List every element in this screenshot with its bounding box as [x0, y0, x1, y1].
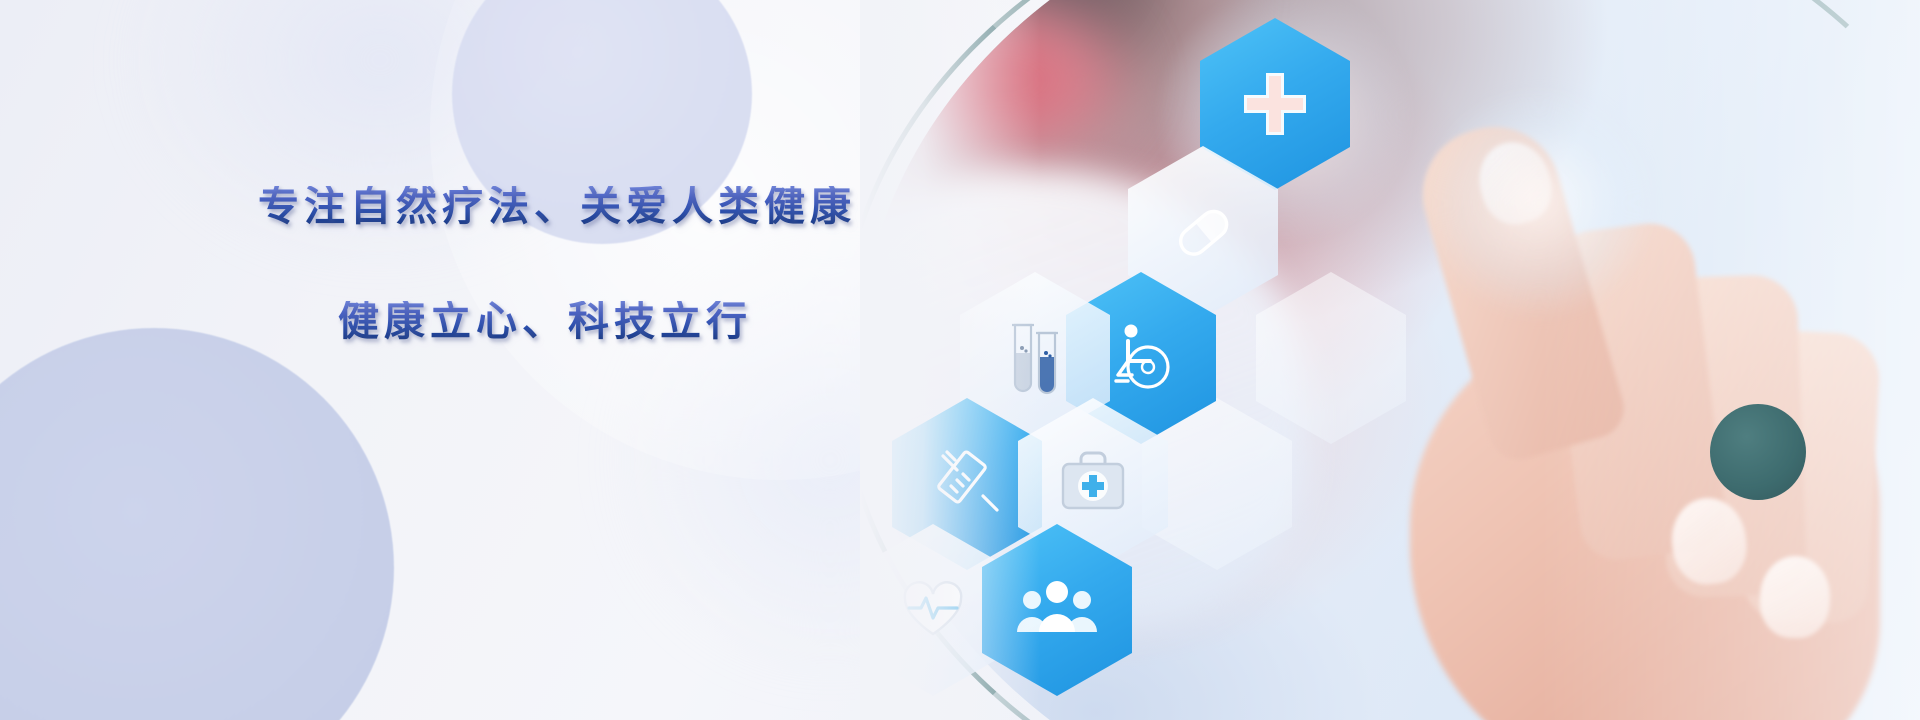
headline-line-2: 健康立心、科技立行	[338, 301, 878, 342]
medical-cross-icon	[1236, 65, 1314, 143]
pill-capsule-icon	[1161, 190, 1245, 274]
blurred-mouth	[890, 0, 1140, 170]
medical-hero-banner: 专注自然疗法、关爱人类健康 健康立心、科技立行	[0, 0, 1920, 720]
hero-photo-pane	[860, 0, 1920, 720]
circle-bottom-periwinkle	[0, 328, 394, 720]
people-group-icon	[1013, 568, 1101, 652]
arc-end-dot	[1710, 404, 1806, 500]
first-aid-kit-icon	[1051, 442, 1135, 526]
syringe-icon	[923, 440, 1011, 528]
headline-block: 专注自然疗法、关爱人类健康 健康立心、科技立行	[258, 186, 878, 342]
headline-line-1: 专注自然疗法、关爱人类健康	[258, 186, 878, 227]
wheelchair-icon	[1098, 315, 1184, 401]
test-tubes-icon	[995, 315, 1075, 401]
heart-pulse-icon	[891, 568, 975, 652]
